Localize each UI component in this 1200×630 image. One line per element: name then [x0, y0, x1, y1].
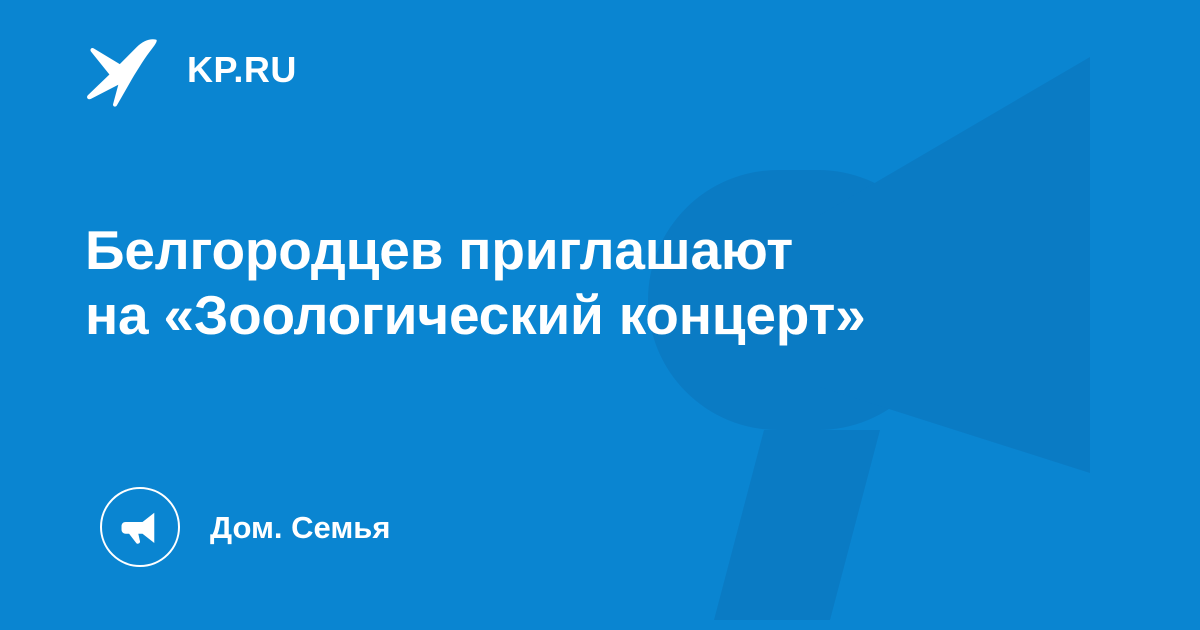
swallow-bird-icon [85, 33, 159, 107]
rubric-badge[interactable]: Дом. Семья [100, 487, 390, 567]
rubric-label: Дом. Семья [210, 512, 390, 543]
brand-name: KP.RU [187, 52, 297, 88]
rubric-icon-circle [100, 487, 180, 567]
headline: Белгородцев приглашают на «Зоологический… [85, 218, 955, 348]
headline-line-2: на «Зоологический концерт» [85, 283, 955, 348]
megaphone-icon [119, 506, 161, 548]
headline-line-1: Белгородцев приглашают [85, 218, 955, 283]
social-share-card: KP.RU Белгородцев приглашают на «Зоологи… [0, 0, 1200, 630]
brand-header[interactable]: KP.RU [85, 32, 297, 108]
